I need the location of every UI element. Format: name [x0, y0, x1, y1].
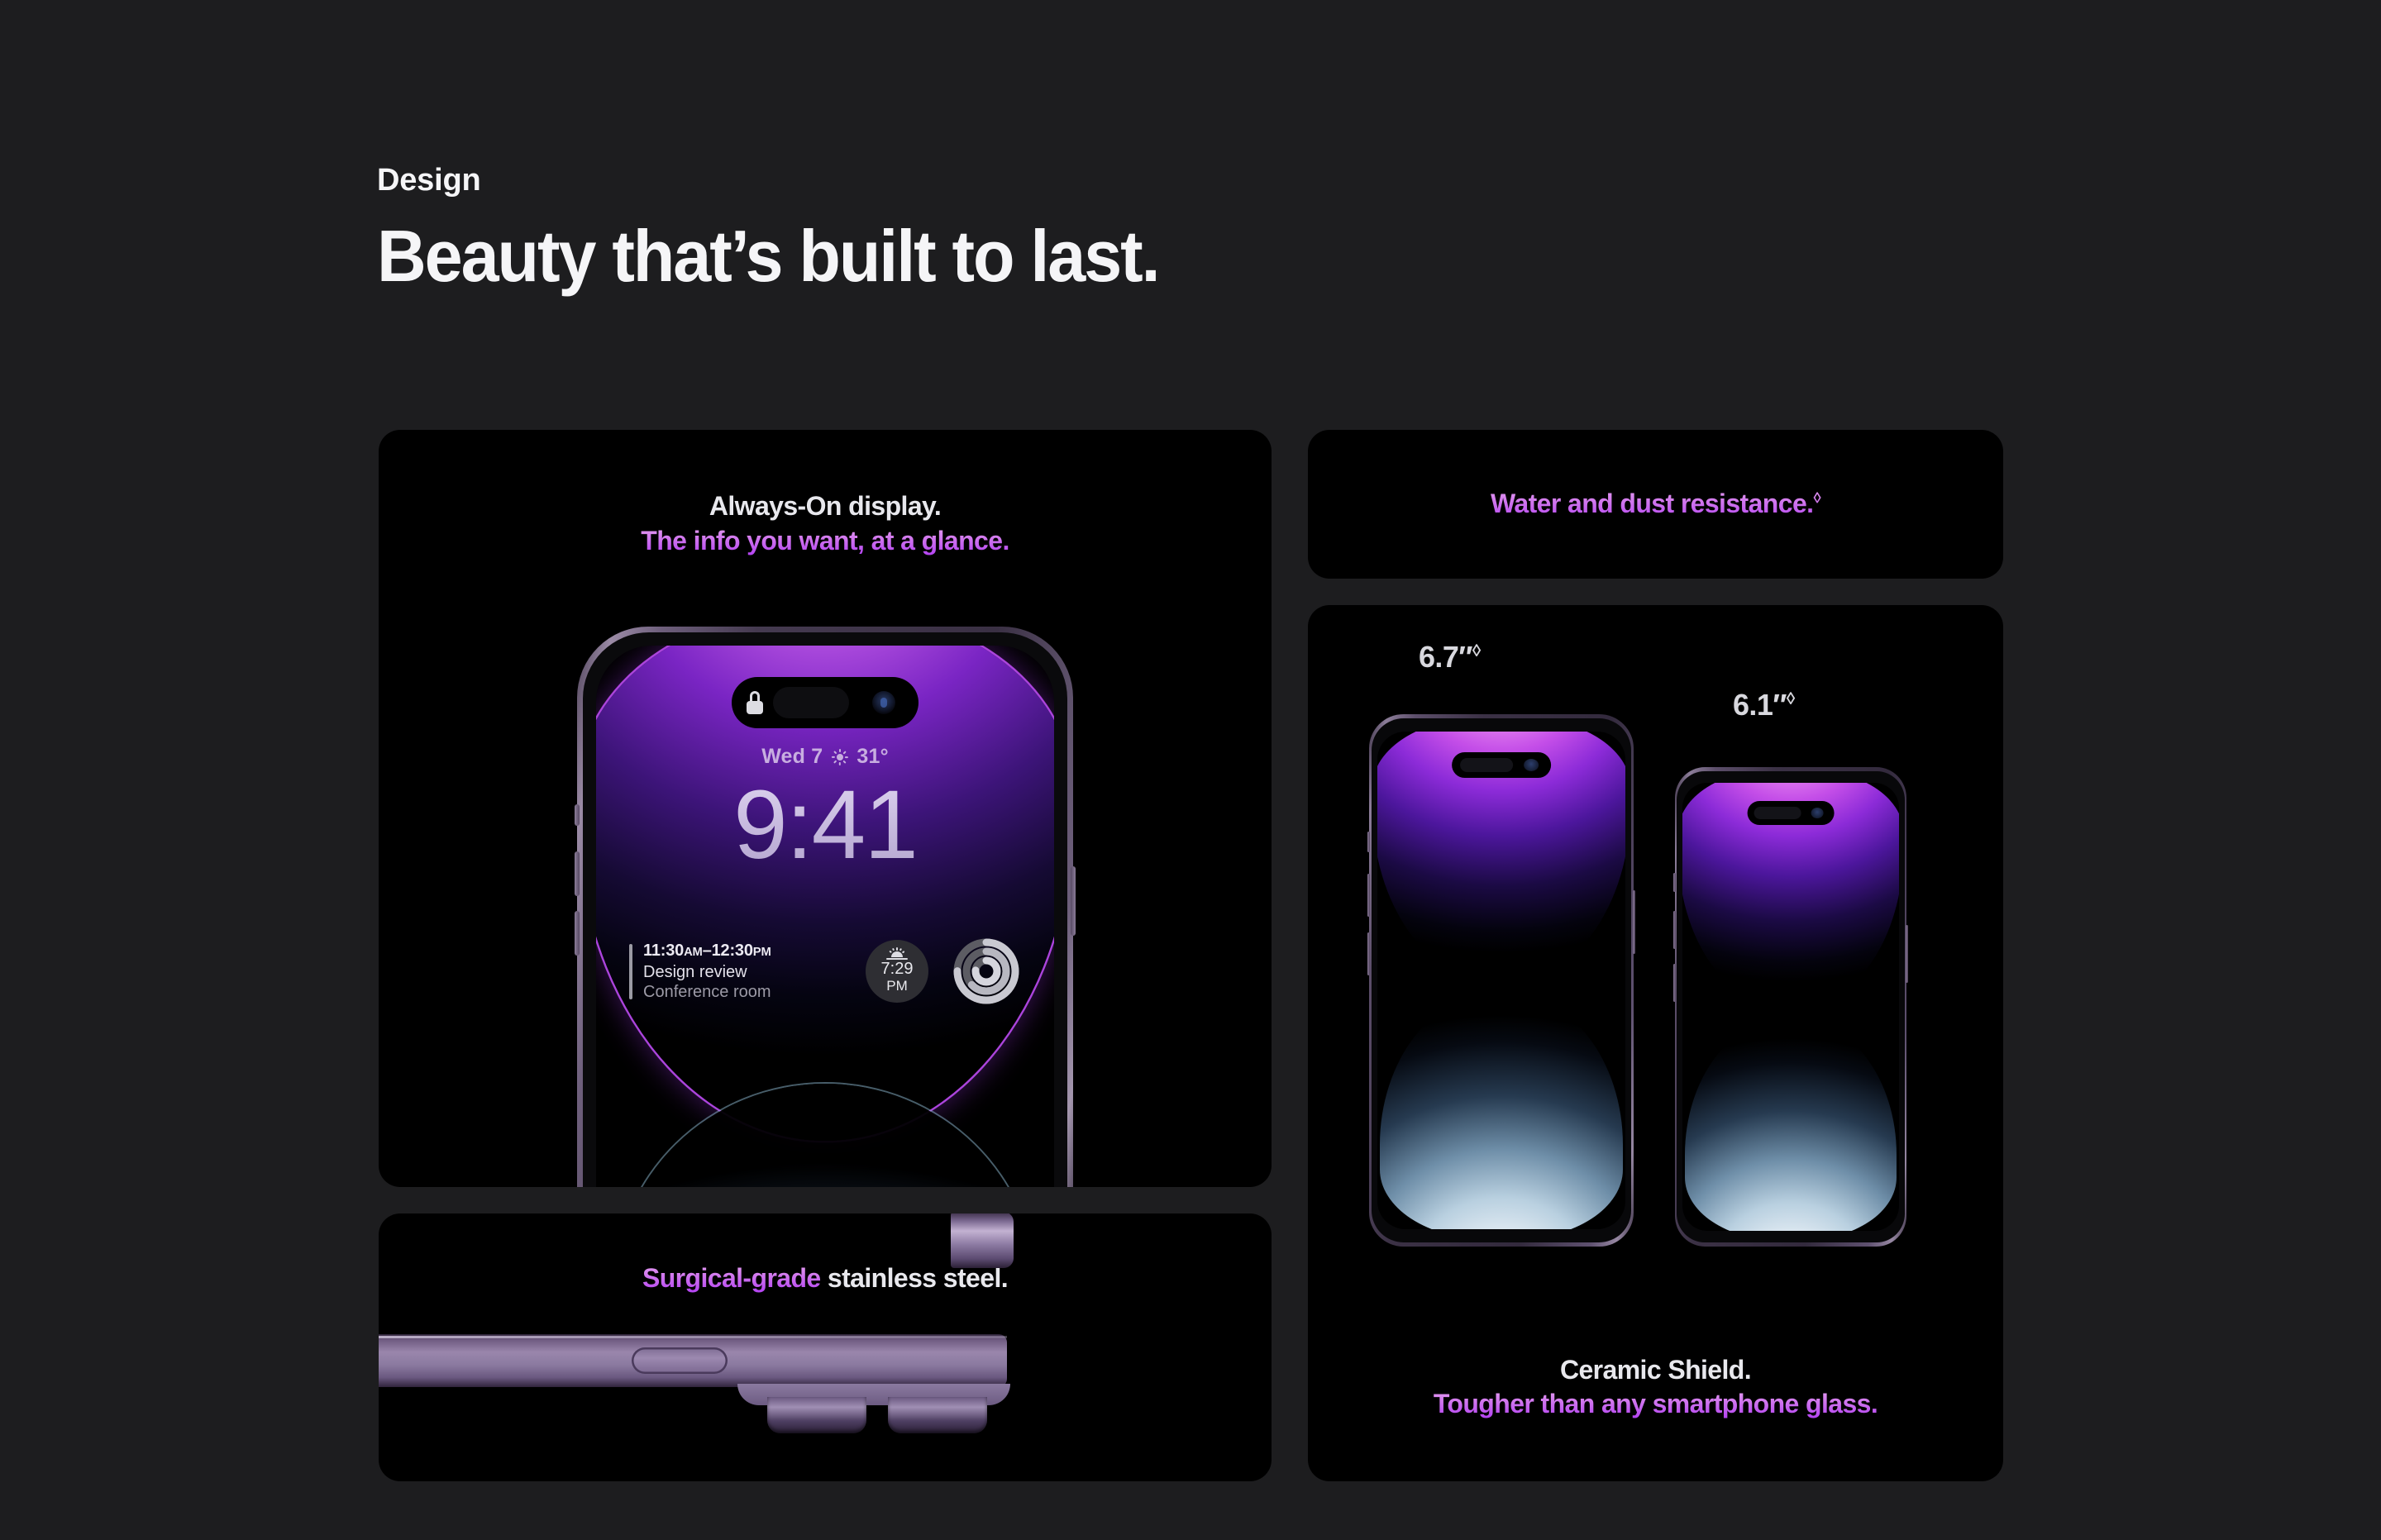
footnote-marker-large: ◊ [1472, 641, 1481, 660]
size-comparison: 6.7″◊ 6.1″◊ [1308, 605, 2003, 1316]
footnote-marker: ◊ [1813, 489, 1820, 507]
event-time: 11:30AM–12:30PM [643, 942, 842, 961]
card-stainless-steel[interactable]: Surgical-grade stainless steel. [379, 1213, 1272, 1481]
card-always-on-display[interactable]: Always-On display. The info you want, at… [379, 430, 1272, 1187]
ceramic-caption-line1: Ceramic Shield. [1308, 1353, 2003, 1388]
always-on-caption-line1: Always-On display. [379, 489, 1272, 524]
size-label-large: 6.7″◊ [1419, 640, 1481, 675]
mini-side-button-2 [1906, 925, 1908, 983]
iphone-pro-front [1675, 767, 1906, 1247]
volume-button-detail [632, 1347, 728, 1374]
lock-date: Wed 7 [761, 745, 823, 769]
camera-lens-2 [888, 1397, 987, 1433]
card-water-dust-resistance[interactable]: Water and dust resistance.◊ [1308, 430, 2003, 579]
sunset-icon [886, 947, 908, 960]
sunset-meridiem: PM [886, 978, 908, 994]
iphone-pro-max-front [1369, 714, 1634, 1247]
dynamic-island[interactable] [732, 677, 919, 728]
water-caption-text: Water and dust resistance. [1491, 489, 1813, 518]
lock-clock: 9:41 [596, 775, 1054, 875]
footnote-marker-small: ◊ [1787, 689, 1795, 708]
feature-card-grid: Always-On display. The info you want, at… [379, 430, 2003, 1481]
dynamic-island-pill [773, 687, 849, 718]
iphone-side-rail [379, 1334, 1007, 1387]
mini-dynamic-island-small [1748, 801, 1835, 824]
lock-icon [747, 691, 763, 714]
rail-highlight [379, 1336, 1007, 1338]
date-weather-row: Wed 7 [596, 745, 1054, 769]
front-camera-icon [872, 691, 895, 714]
sunset-widget[interactable]: 7:29 PM [866, 940, 928, 1003]
rail-end-cap [951, 1213, 1014, 1268]
phone-bezel: Wed 7 [583, 632, 1067, 1187]
side-button [1071, 866, 1076, 936]
activity-rings-icon[interactable] [952, 937, 1021, 1006]
event-title: Design review [643, 963, 842, 982]
size-label-small: 6.1″◊ [1733, 688, 1795, 722]
page-header: Design Beauty that’s built to last. [377, 162, 1209, 294]
always-on-caption-line2: The info you want, at a glance. [641, 526, 1009, 555]
mini-volume-down [1367, 932, 1370, 975]
sun-icon [832, 749, 847, 765]
lock-screen-widgets: 11:30AM–12:30PM Design review Conference… [629, 937, 1021, 1006]
mini-volume-down-2 [1673, 964, 1676, 1002]
calendar-event-widget[interactable]: 11:30AM–12:30PM Design review Conference… [629, 942, 842, 1002]
wallpaper-mirror-dome [614, 1084, 1036, 1187]
camera-lens-1 [767, 1397, 866, 1433]
mini-volume-up-2 [1673, 911, 1676, 949]
sunset-time: 7:29 [881, 961, 914, 978]
iphone-front-always-on: Wed 7 [577, 627, 1073, 1187]
mute-switch [575, 804, 580, 826]
water-caption: Water and dust resistance.◊ [1308, 487, 2003, 522]
volume-down-button [575, 911, 580, 956]
phone-screen: Wed 7 [596, 646, 1054, 1187]
card-ceramic-shield[interactable]: 6.7″◊ 6.1″◊ [1308, 605, 2003, 1481]
mini-side-button [1633, 890, 1635, 954]
volume-up-button [575, 851, 580, 896]
mini-screen-large [1377, 732, 1625, 1230]
mini-screen-small [1682, 783, 1899, 1232]
ceramic-caption-line2: Tougher than any smartphone glass. [1434, 1389, 1878, 1418]
mini-mute-switch [1367, 832, 1370, 853]
mini-dynamic-island-large [1452, 752, 1551, 778]
ceramic-caption: Ceramic Shield. Tougher than any smartph… [1308, 1353, 2003, 1422]
section-eyebrow: Design [377, 162, 1209, 200]
lock-screen-content: Wed 7 [596, 745, 1054, 875]
stainless-caption-accent: Surgical-grade [642, 1263, 821, 1293]
lock-temperature: 31° [856, 745, 888, 769]
mini-volume-up [1367, 874, 1370, 917]
mini-mute-switch-2 [1673, 873, 1676, 892]
always-on-caption: Always-On display. The info you want, at… [379, 489, 1272, 558]
event-location: Conference room [643, 983, 842, 1002]
stainless-caption: Surgical-grade stainless steel. [379, 1261, 1272, 1296]
page-title: Beauty that’s built to last. [377, 218, 1159, 294]
